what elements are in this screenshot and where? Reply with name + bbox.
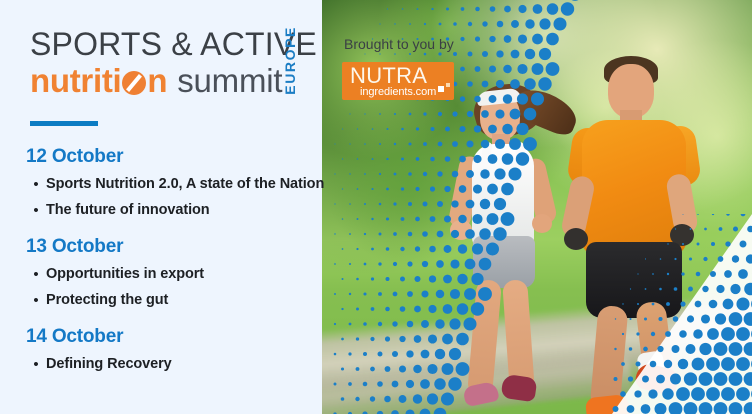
accent-rule <box>30 121 98 126</box>
content-column: SPORTS & ACTIVE nutritin summit EUROPE B… <box>0 0 360 414</box>
agenda-session-list: • Defining Recovery <box>26 356 356 374</box>
summit-promo-banner: SPORTS & ACTIVE nutritin summit EUROPE B… <box>0 0 752 414</box>
woman-left-leg <box>467 279 502 397</box>
bullet-icon: • <box>26 266 46 284</box>
nutraingredients-logo[interactable]: NUTRA ingredients.com <box>342 62 454 100</box>
agenda-list: 12 October • Sports Nutrition 2.0, A sta… <box>26 146 356 382</box>
agenda-day-date: 12 October <box>26 146 356 168</box>
session-title: Sports Nutrition 2.0, A state of the Nat… <box>46 176 324 193</box>
logo-region-europe: EUROPE <box>282 26 298 95</box>
agenda-day: 13 October • Opportunities in export • P… <box>26 236 356 310</box>
agenda-session-list: • Sports Nutrition 2.0, A state of the N… <box>26 176 356 220</box>
list-item: • The future of innovation <box>26 202 356 220</box>
man-left-shoe <box>585 394 631 414</box>
runner-woman <box>440 84 572 384</box>
man-left-hand <box>564 228 588 250</box>
list-item: • Opportunities in export <box>26 266 356 284</box>
list-item: • Protecting the gut <box>26 292 356 310</box>
bullet-icon: • <box>26 356 46 374</box>
agenda-day: 14 October • Defining Recovery <box>26 326 356 374</box>
agenda-day-date: 13 October <box>26 236 356 258</box>
bullet-icon: • <box>26 202 46 220</box>
woman-right-hand <box>532 214 552 233</box>
session-title: Opportunities in export <box>46 266 204 283</box>
nutra-domain: ingredients.com <box>360 86 436 98</box>
bullet-icon: • <box>26 176 46 194</box>
session-title: Protecting the gut <box>46 292 168 309</box>
session-title: The future of innovation <box>46 202 210 219</box>
sponsor-prefix: Brought to you by <box>344 36 454 52</box>
list-item: • Defining Recovery <box>26 356 356 374</box>
agenda-session-list: • Opportunities in export • Protecting t… <box>26 266 356 310</box>
agenda-day-date: 14 October <box>26 326 356 348</box>
woman-left-hand <box>450 220 472 240</box>
nutra-square-small-icon <box>446 83 450 87</box>
man-shorts <box>586 242 682 318</box>
runner-man <box>560 52 720 388</box>
session-title: Defining Recovery <box>46 356 172 373</box>
logo-word-summit: summit <box>177 64 282 97</box>
nutra-wordmark: NUTRA <box>350 64 427 88</box>
bullet-icon: • <box>26 292 46 310</box>
list-item: • Sports Nutrition 2.0, A state of the N… <box>26 176 356 194</box>
logo-word-nutrition: nutritin <box>30 64 167 97</box>
pill-o-icon <box>122 71 146 95</box>
nutra-square-icon <box>438 86 444 92</box>
agenda-day: 12 October • Sports Nutrition 2.0, A sta… <box>26 146 356 220</box>
